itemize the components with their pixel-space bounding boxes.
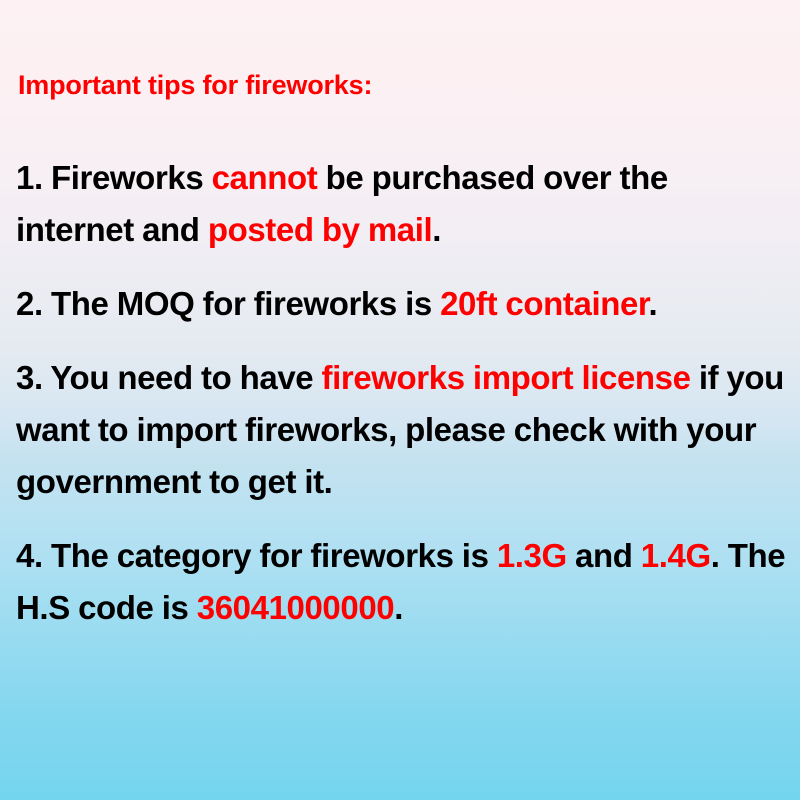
tip-highlight-text: 1.3G	[497, 537, 567, 574]
tip-item-1: 1. Fireworks cannot be purchased over th…	[16, 152, 788, 256]
tip-body-text: and	[567, 537, 641, 574]
tip-highlight-text: 36041000000	[197, 589, 394, 626]
tips-list: 1. Fireworks cannot be purchased over th…	[16, 152, 788, 634]
tip-item-3: 3. You need to have fireworks import lic…	[16, 352, 788, 508]
tip-highlight-text: fireworks import license	[322, 359, 691, 396]
tip-item-4: 4. The category for fireworks is 1.3G an…	[16, 530, 788, 634]
tip-body-text: .	[432, 211, 441, 248]
tip-highlight-text: 1.4G	[641, 537, 711, 574]
fireworks-tips-poster: Important tips for fireworks: 1. Firewor…	[0, 0, 800, 800]
tip-highlight-text: cannot	[212, 159, 318, 196]
tip-highlight-text: 20ft container	[440, 285, 648, 322]
tip-item-2: 2. The MOQ for fireworks is 20ft contain…	[16, 278, 788, 330]
tip-body-text: .	[394, 589, 403, 626]
tip-body-text: 1. Fireworks	[16, 159, 212, 196]
tip-highlight-text: posted by mail	[208, 211, 432, 248]
tip-body-text: .	[649, 285, 658, 322]
tip-body-text: 3. You need to have	[16, 359, 322, 396]
page-title: Important tips for fireworks:	[18, 70, 372, 101]
tip-body-text: 4. The category for fireworks is	[16, 537, 497, 574]
tip-body-text: 2. The MOQ for fireworks is	[16, 285, 440, 322]
